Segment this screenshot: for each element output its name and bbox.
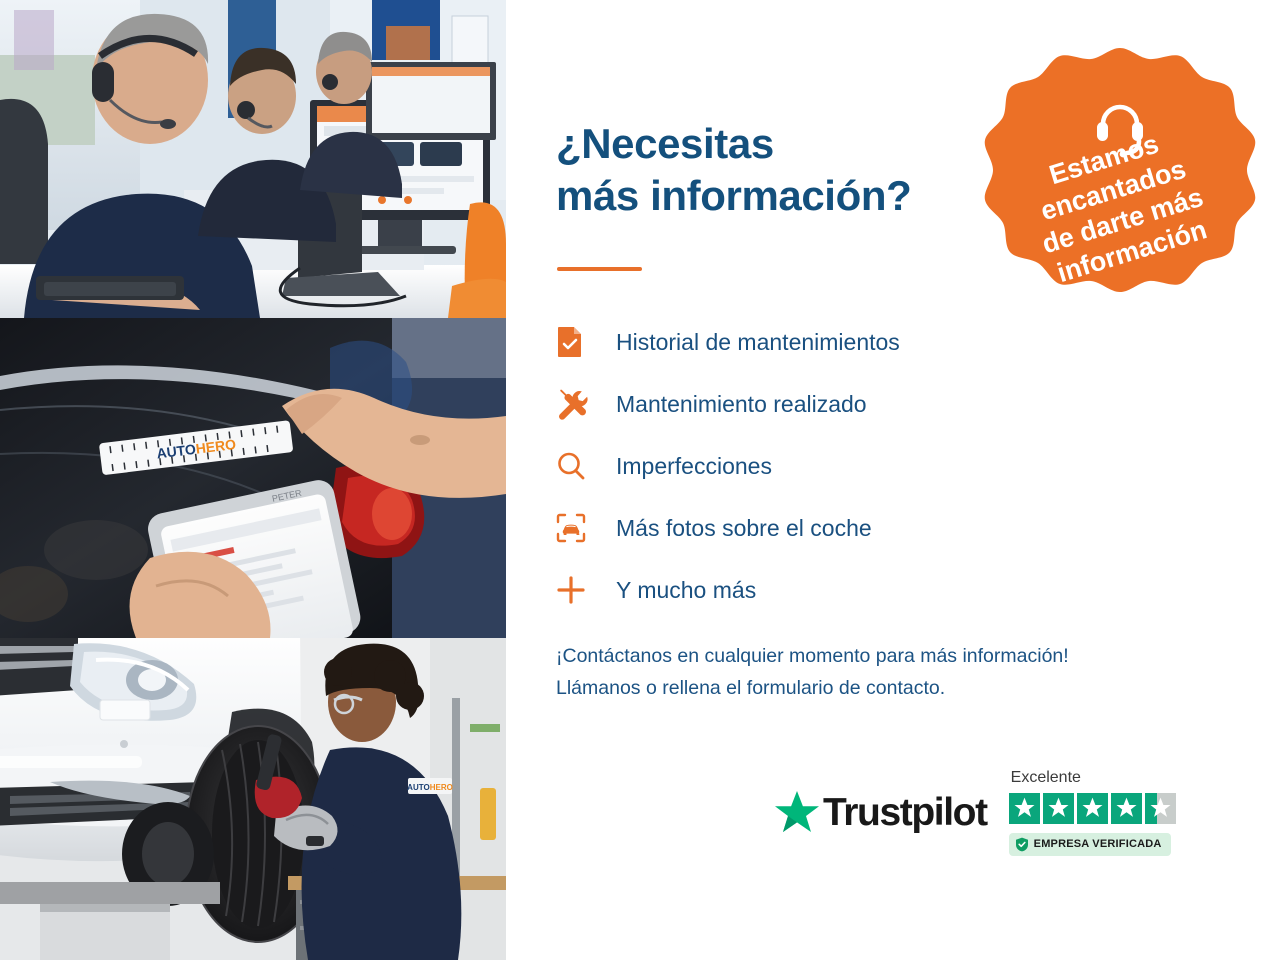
accent-divider [557, 267, 642, 271]
star-rating [1009, 793, 1176, 824]
svg-text:AUTOHERO: AUTOHERO [407, 783, 453, 792]
workshop-wheel-service-photo: AUTOHERO [0, 638, 506, 960]
status-badge: Estamos encantados de darte más informac… [984, 42, 1256, 314]
feature-label: Más fotos sobre el coche [600, 517, 872, 540]
contact-paragraph: ¡Contáctanos en cualquier momento para m… [556, 640, 1236, 704]
trustpilot-logo: Trustpilot [774, 790, 987, 834]
feature-list: Historial de mantenimientos Mantenimient… [556, 311, 1076, 621]
plus-icon [556, 571, 600, 609]
shield-check-icon [1015, 837, 1034, 852]
magnifier-icon [556, 447, 600, 485]
trustpilot-rating-block: Excelente [1009, 768, 1176, 856]
trustpilot-widget[interactable]: Trustpilot Excelente [774, 768, 1176, 856]
call-center-agents-photo [0, 0, 506, 318]
feature-label: Mantenimiento realizado [600, 393, 867, 416]
feature-item-maintenance-done: Mantenimiento realizado [556, 373, 1076, 435]
star-3 [1077, 793, 1108, 824]
promo-page: AUTOHERO PETER [0, 0, 1280, 960]
photo-column: AUTOHERO PETER [0, 0, 506, 960]
feature-label: Imperfecciones [600, 455, 772, 478]
feature-item-more-photos: Más fotos sobre el coche [556, 497, 1076, 559]
car-viewfinder-icon [556, 509, 600, 547]
tools-wrench-screwdriver-icon [556, 385, 600, 423]
feature-label: Y mucho más [600, 579, 756, 602]
star-2 [1043, 793, 1074, 824]
page-title: ¿Necesitas más información? [556, 118, 911, 222]
content-panel: ¿Necesitas más información? Estamos [506, 0, 1280, 960]
trustpilot-wordmark: Trustpilot [823, 793, 987, 832]
verified-badge: EMPRESA VERIFICADA [1009, 833, 1171, 856]
feature-label: Historial de mantenimientos [600, 331, 900, 354]
trustpilot-star-icon [774, 790, 820, 834]
verified-label: EMPRESA VERIFICADA [1034, 839, 1162, 850]
star-4 [1111, 793, 1142, 824]
rating-label: Excelente [1009, 770, 1081, 786]
document-check-icon [556, 323, 600, 361]
feature-item-much-more: Y mucho más [556, 559, 1076, 621]
car-inspection-ruler-photo: AUTOHERO PETER [0, 318, 506, 638]
feature-item-maintenance-history: Historial de mantenimientos [556, 311, 1076, 373]
feature-item-imperfections: Imperfecciones [556, 435, 1076, 497]
star-1 [1009, 793, 1040, 824]
star-5 [1145, 793, 1176, 824]
